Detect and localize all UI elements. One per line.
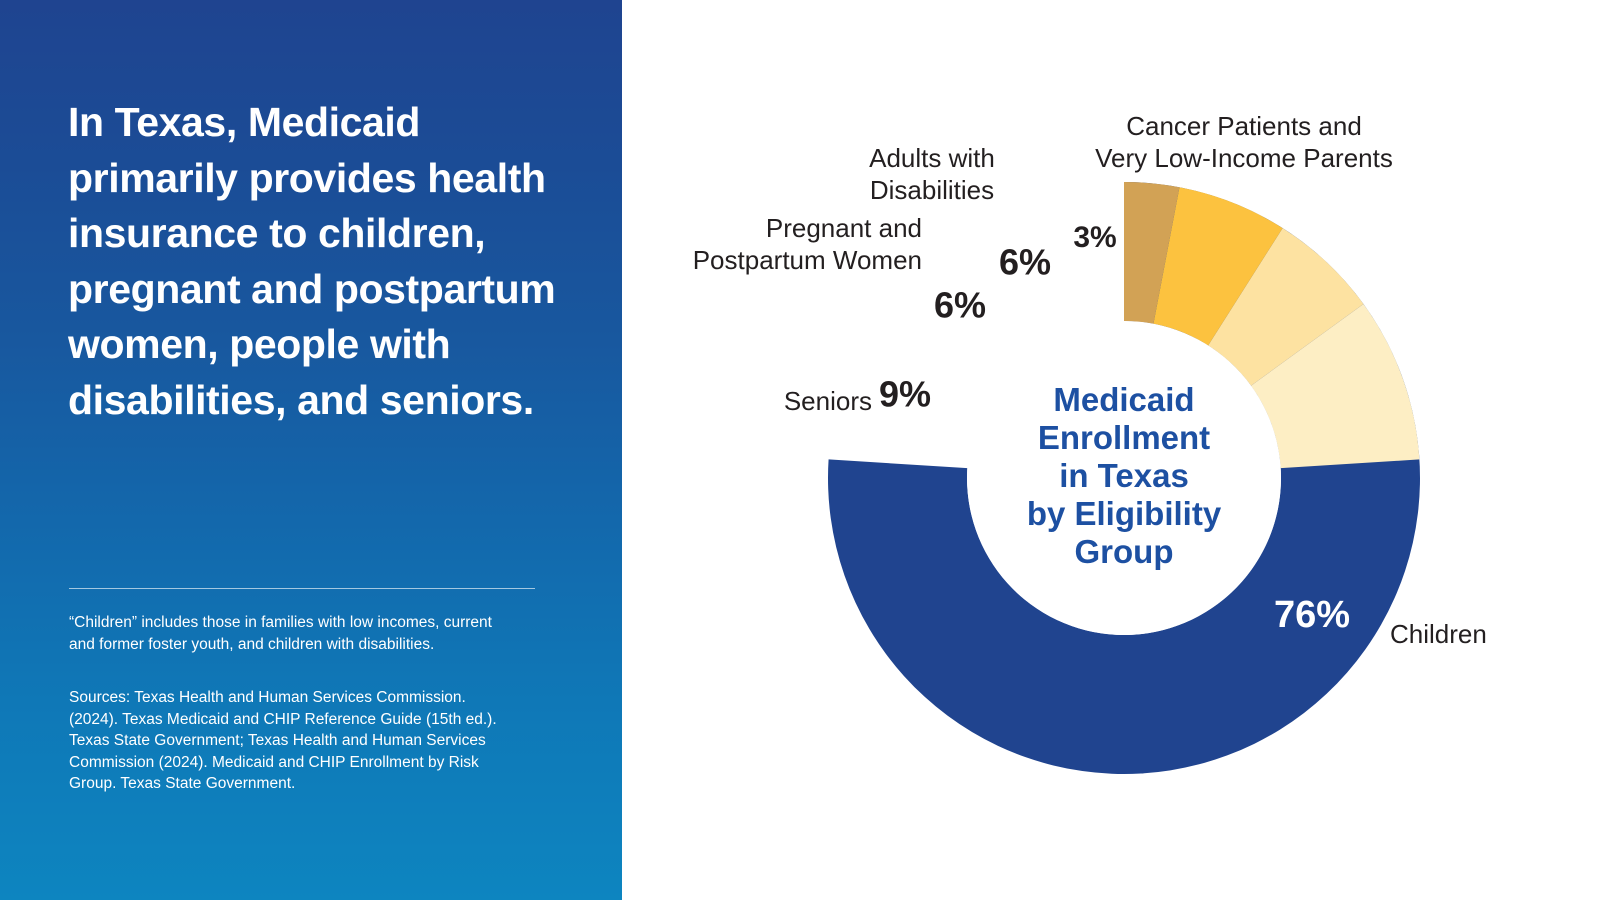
center-title-line-2: Enrollment [1038, 419, 1210, 456]
center-title-line-5: Group [1075, 533, 1174, 570]
value-cancer: 3% [1073, 221, 1116, 254]
label-seniors: Seniors [682, 385, 872, 417]
value-pregnant: 6% [934, 285, 986, 326]
value-seniors: 9% [879, 374, 931, 415]
label-cancer-patients: Cancer Patients and Very Low-Income Pare… [1069, 110, 1419, 174]
label-adults-with-disabilities: Adults with Disabilities [852, 142, 1012, 206]
value-adults: 6% [999, 242, 1051, 283]
donut-chart-area: 76%9%6%6%3%MedicaidEnrollmentin Texasby … [622, 0, 1600, 900]
center-title-line-4: by Eligibility [1027, 495, 1222, 532]
divider-rule [69, 588, 535, 589]
infographic-page: In Texas, Medicaid primarily provides he… [0, 0, 1600, 900]
footnote-text: “Children” includes those in families wi… [69, 612, 499, 655]
sources-text: Sources: Texas Health and Human Services… [69, 687, 499, 795]
left-info-panel: In Texas, Medicaid primarily provides he… [0, 0, 622, 900]
value-children: 76% [1274, 594, 1350, 636]
center-title-line-1: Medicaid [1053, 381, 1194, 418]
page-title: In Texas, Medicaid primarily provides he… [68, 95, 568, 428]
label-children: Children [1390, 618, 1570, 650]
label-pregnant-postpartum-women: Pregnant and Postpartum Women [632, 212, 922, 276]
center-title-line-3: in Texas [1059, 457, 1189, 494]
